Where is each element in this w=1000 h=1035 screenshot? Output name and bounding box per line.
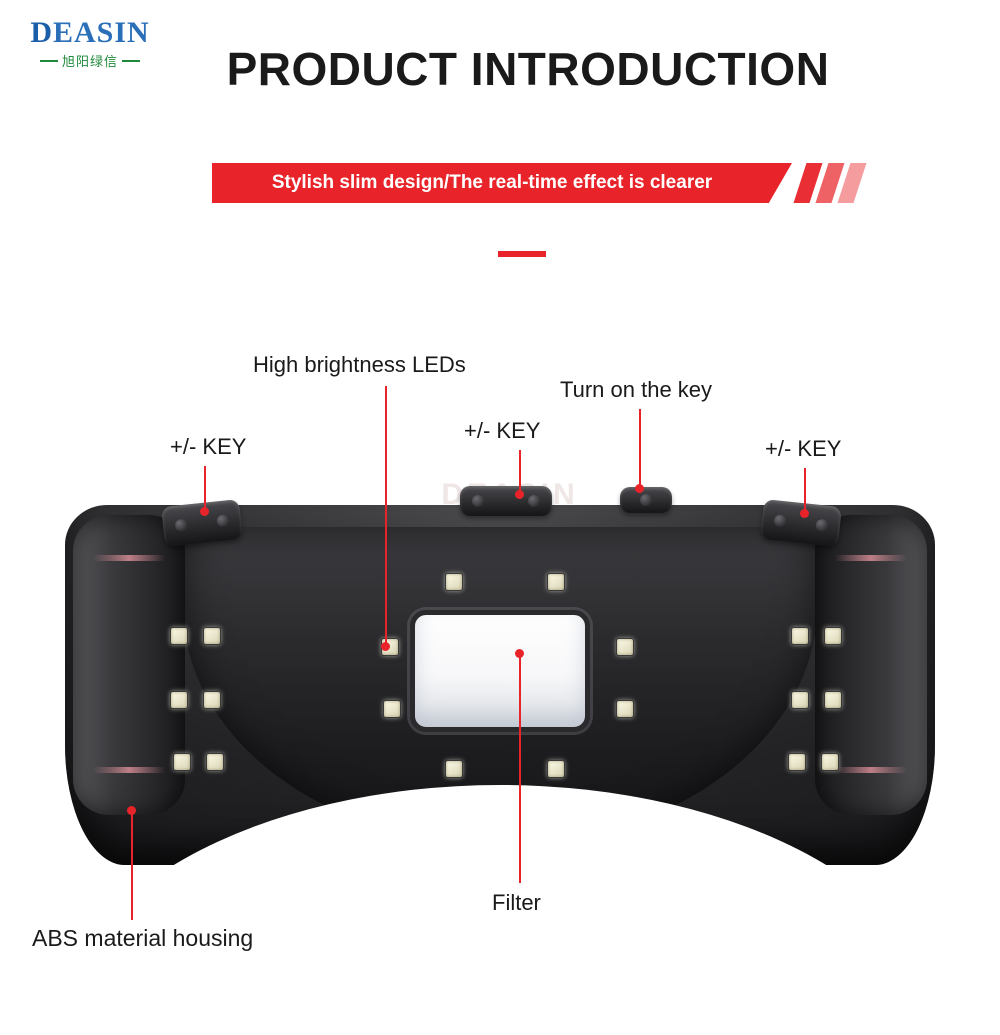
led-dot (824, 691, 842, 709)
pillar-stripe-icon (93, 555, 165, 561)
led-dot (173, 753, 191, 771)
callout-key-right-leader-line (804, 468, 806, 512)
callout-key-left-label: +/- KEY (170, 434, 246, 460)
led-dot (203, 691, 221, 709)
key-dimple-icon (528, 495, 540, 507)
title-underline (498, 251, 546, 257)
led-dot (791, 691, 809, 709)
led-dot (791, 627, 809, 645)
led-dot (206, 753, 224, 771)
callout-power-leader-line (639, 409, 641, 487)
led-dot (788, 753, 806, 771)
led-dot (821, 753, 839, 771)
key-dimple-icon (774, 514, 787, 527)
subtitle-banner: Stylish slim design/The real-time effect… (212, 163, 852, 203)
callout-housing-marker (127, 806, 136, 815)
subtitle-text: Stylish slim design/The real-time effect… (212, 163, 772, 203)
key-left-plus-minus[interactable] (161, 499, 243, 547)
callout-key-left-leader-line (204, 466, 206, 510)
callout-leds-marker (381, 642, 390, 651)
callout-leds-label: High brightness LEDs (253, 352, 466, 378)
led-dot (445, 573, 463, 591)
callout-housing-label: ABS material housing (32, 925, 253, 952)
callout-key-right-label: +/- KEY (765, 436, 841, 462)
led-dot (203, 627, 221, 645)
callout-filter-label: Filter (492, 890, 541, 916)
callout-key-mid-leader-line (519, 450, 521, 494)
callout-housing-leader-line (131, 812, 133, 920)
callout-power-marker (635, 484, 644, 493)
pillar-stripe-icon (93, 767, 165, 773)
callout-filter-leader-line (519, 655, 521, 883)
product-illustration: DEASIN (0, 300, 1000, 920)
led-dot (616, 700, 634, 718)
led-dot (445, 760, 463, 778)
led-dot (616, 638, 634, 656)
led-dot (383, 700, 401, 718)
led-dot (170, 691, 188, 709)
callout-key-mid-label: +/- KEY (464, 418, 540, 444)
led-dot (824, 627, 842, 645)
callout-leds-leader-line (385, 386, 387, 646)
led-dot (170, 627, 188, 645)
filter-window (410, 610, 590, 732)
callout-power-label: Turn on the key (560, 377, 712, 403)
key-right-plus-minus[interactable] (760, 499, 842, 547)
lamp-left-pillar (73, 515, 185, 815)
callout-key-right-marker (800, 509, 809, 518)
pillar-stripe-icon (835, 767, 907, 773)
key-dimple-icon (216, 514, 229, 527)
key-dimple-icon (175, 519, 188, 532)
pillar-stripe-icon (835, 555, 907, 561)
key-dimple-icon (815, 519, 828, 532)
callout-key-mid-marker (515, 490, 524, 499)
led-dot (547, 573, 565, 591)
led-dot (547, 760, 565, 778)
key-dimple-icon (640, 494, 652, 506)
callout-key-left-marker (200, 507, 209, 516)
key-mid-plus-minus[interactable] (460, 486, 552, 516)
page-title: PRODUCT INTRODUCTION (0, 42, 1000, 96)
key-power[interactable] (620, 487, 672, 513)
callout-filter-marker (515, 649, 524, 658)
key-dimple-icon (472, 495, 484, 507)
